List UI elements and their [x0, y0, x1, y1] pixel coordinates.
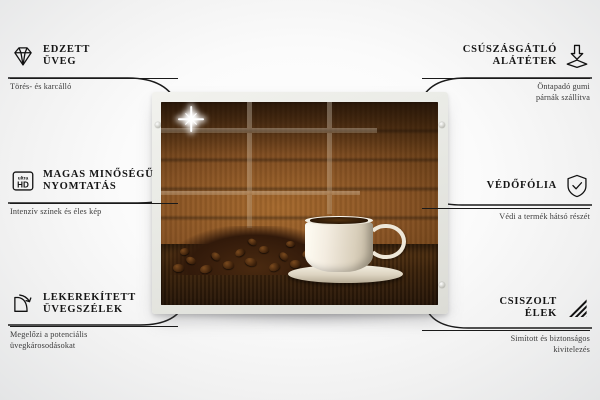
feature-high-quality-print: ultra HD MAGAS MINŐSÉGŰ NYOMTATÁS Intenz…	[10, 161, 178, 218]
feature-polished-edges: CSISZOLT ÉLEK Simított és biztonságos ki…	[422, 288, 590, 355]
feature-title: EDZETT	[43, 44, 90, 57]
feature-subtitle: Törés- és karcálló	[10, 82, 178, 93]
press-pad-icon	[564, 43, 590, 69]
feature-title-line2: ÜVEG	[43, 56, 90, 69]
ultra-hd-icon: ultra HD	[10, 168, 36, 194]
feature-subtitle: Védi a termék hátsó részét	[422, 212, 590, 223]
feature-subtitle-line2: üvegkárosodásokat	[10, 341, 178, 352]
feature-protective-film: VÉDŐFÓLIA Védi a termék hátsó részét	[422, 166, 590, 223]
infographic-canvas: EDZETT ÜVEG Törés- és karcálló ultra HD …	[0, 0, 600, 400]
feature-title: CSÚSZÁSGÁTLÓ	[463, 44, 557, 57]
rounded-corner-icon	[10, 291, 36, 317]
feature-anti-slip-pads: CSÚSZÁSGÁTLÓ ALÁTÉTEK Öntapadó gumi párn…	[422, 36, 590, 103]
divider	[10, 78, 178, 79]
feature-title: CSISZOLT	[499, 296, 557, 309]
feature-title: MAGAS MINŐSÉGŰ	[43, 169, 154, 182]
coffee-liquid	[310, 217, 369, 223]
feature-tempered-glass: EDZETT ÜVEG Törés- és karcálló	[10, 36, 178, 93]
divider	[422, 330, 590, 331]
coffee-cup	[300, 214, 391, 283]
feature-subtitle: Megelőzi a potenciális	[10, 330, 178, 341]
product-photo	[161, 102, 438, 305]
shield-check-icon	[564, 173, 590, 199]
feature-subtitle: Simított és biztonságos	[422, 334, 590, 345]
feature-subtitle-line2: párnák szállítva	[422, 93, 590, 104]
hatch-lines-icon	[564, 295, 590, 321]
divider	[10, 326, 178, 327]
feature-title-line2: ALÁTÉTEK	[463, 56, 557, 69]
divider	[422, 208, 590, 209]
feature-subtitle: Öntapadó gumi	[422, 82, 590, 93]
feature-title-line2: ÉLEK	[499, 308, 557, 321]
divider	[10, 203, 178, 204]
feature-rounded-glass-edges: LEKEREKÍTETT ÜVEGSZÉLEK Megelőzi a poten…	[10, 284, 178, 351]
feature-title-line2: ÜVEGSZÉLEK	[43, 304, 136, 317]
feature-title-line2: NYOMTATÁS	[43, 181, 154, 194]
cup-body	[305, 222, 373, 272]
feature-title: VÉDŐFÓLIA	[487, 180, 557, 193]
diamond-icon	[10, 43, 36, 69]
mounting-stud	[439, 122, 445, 128]
svg-text:HD: HD	[17, 181, 29, 190]
product-image	[152, 92, 448, 314]
feature-subtitle-line2: kivitelezés	[422, 345, 590, 356]
feature-subtitle: Intenzív színek és éles kép	[10, 207, 178, 218]
divider	[422, 78, 590, 79]
feature-title: LEKEREKÍTETT	[43, 292, 136, 305]
